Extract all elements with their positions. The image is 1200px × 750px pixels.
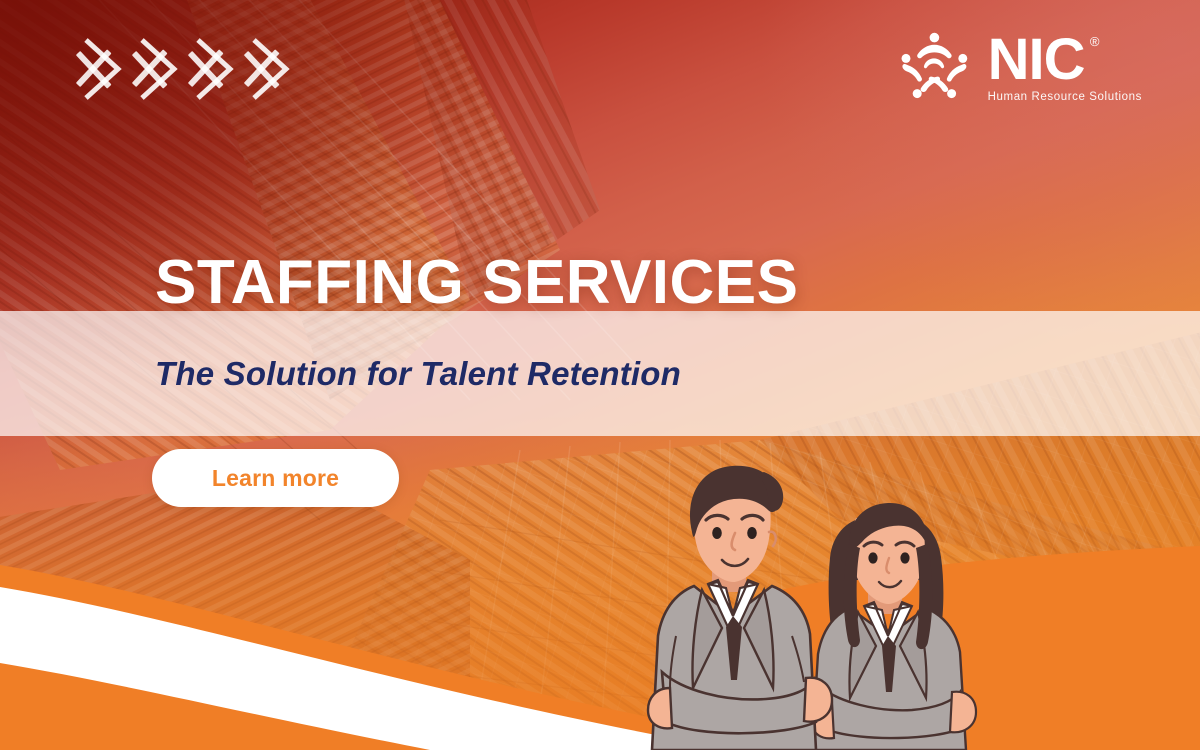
chevron-decoration-group xyxy=(78,36,292,102)
chevron-right-icon xyxy=(134,36,180,102)
page-subtitle: The Solution for Talent Retention xyxy=(155,311,681,436)
woman-figure xyxy=(812,503,976,750)
logo-wordmark-block: NIC® Human Resource Solutions xyxy=(988,33,1142,102)
logo-tagline: Human Resource Solutions xyxy=(988,91,1142,103)
chevron-right-icon xyxy=(78,36,124,102)
swoosh-curve-shape xyxy=(0,535,720,750)
logo-brand-text: NIC xyxy=(988,27,1085,92)
learn-more-button[interactable]: Learn more xyxy=(152,449,399,507)
logo-wordmark: NIC® xyxy=(988,33,1085,86)
promotional-banner: NIC® Human Resource Solutions STAFFING S… xyxy=(0,0,1200,750)
chevron-right-icon xyxy=(246,36,292,102)
two-business-people-illustration xyxy=(636,440,1016,750)
man-figure xyxy=(648,466,832,750)
chevron-right-icon xyxy=(190,36,236,102)
people-star-icon xyxy=(894,28,974,108)
page-title: STAFFING SERVICES xyxy=(155,252,799,314)
brand-logo[interactable]: NIC® Human Resource Solutions xyxy=(894,28,1142,108)
registered-mark: ® xyxy=(1090,35,1099,48)
